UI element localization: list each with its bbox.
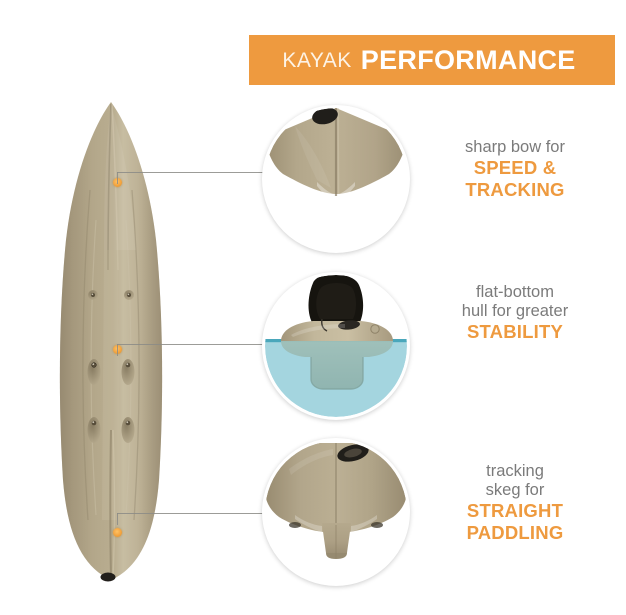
callout-3-emphasis-line-1: STRAIGHT (420, 500, 610, 521)
kayak-hull-svg (46, 100, 176, 582)
detail-circle-flat-bottom (262, 272, 410, 420)
callout-2-lead-line-1: flat-bottom (420, 283, 610, 302)
callout-flat-bottom: flat-bottom hull for greater STABILITY (420, 283, 610, 343)
hull-waterline-photo (265, 275, 407, 417)
callout-3-lead-line-1: tracking (420, 462, 610, 481)
callout-tracking-skeg: tracking skeg for STRAIGHT PADDLING (420, 462, 610, 543)
hull-marker-hull (113, 345, 122, 354)
header-banner: KAYAK PERFORMANCE (249, 35, 615, 85)
callout-sharp-bow: sharp bow for SPEED & TRACKING (420, 138, 610, 200)
hull-marker-skeg (113, 528, 122, 537)
kayak-illustration (46, 100, 176, 585)
hull-waterline-svg (265, 275, 407, 417)
detail-circle-tracking-skeg (262, 438, 410, 586)
skeg-detail-photo (265, 441, 407, 583)
kayak-hull-image (46, 100, 176, 582)
header-bold-word: PERFORMANCE (361, 47, 576, 74)
header-light-word: KAYAK (282, 50, 351, 71)
hull-marker-bow (113, 178, 122, 187)
bow-detail-photo (265, 108, 407, 250)
callout-1-emphasis-line-2: TRACKING (420, 179, 610, 200)
stern-handle-icon (101, 573, 116, 582)
callout-1-lead-line-1: sharp bow for (420, 138, 610, 157)
bow-detail-svg (265, 108, 407, 250)
detail-circle-sharp-bow (262, 105, 410, 253)
callout-3-emphasis-line-2: PADDLING (420, 522, 610, 543)
callout-3-lead-line-2: skeg for (420, 481, 610, 500)
callout-2-lead-line-2: hull for greater (420, 302, 610, 321)
callout-1-emphasis-line-1: SPEED & (420, 157, 610, 178)
skeg-detail-svg (265, 441, 407, 583)
callout-2-emphasis-line-1: STABILITY (420, 321, 610, 342)
